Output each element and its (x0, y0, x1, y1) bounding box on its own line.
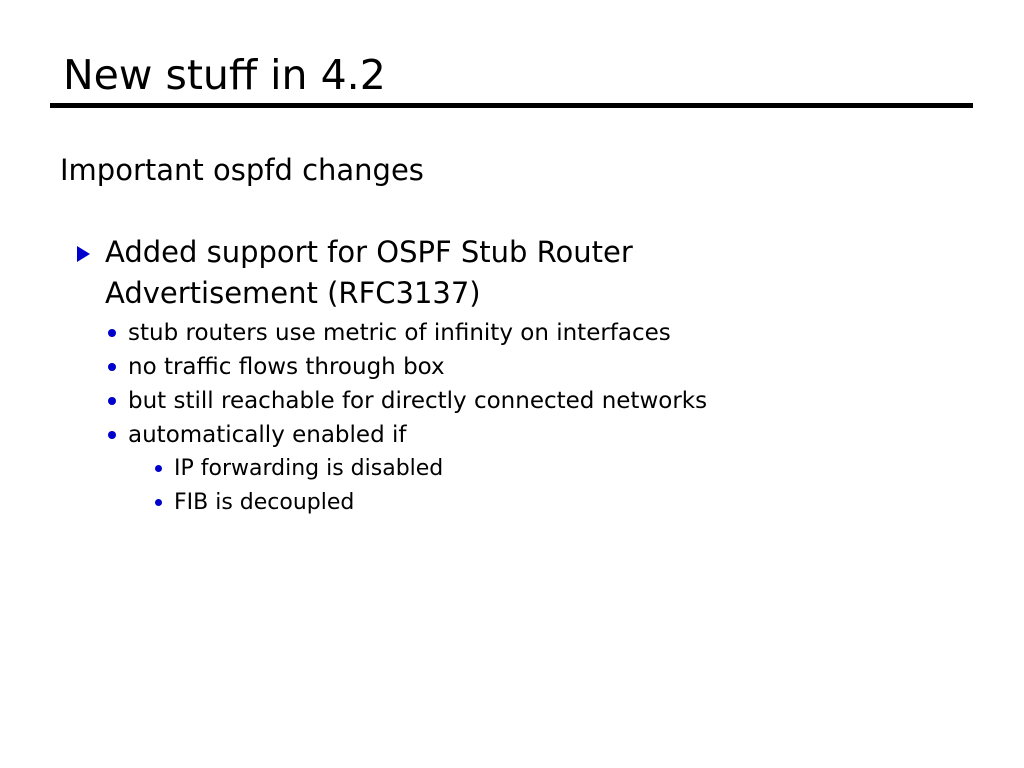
list-item-label: automatically enabled if (128, 422, 406, 448)
page-title: New stuff in 4.2 (50, 50, 974, 100)
list-item-label: IP forwarding is disabled (174, 456, 443, 481)
intro-text: Important ospfd changes (60, 152, 424, 188)
list-item-label: but still reachable for directly connect… (128, 388, 707, 414)
dot-icon (108, 397, 116, 405)
dot-icon (108, 363, 116, 371)
list-item: IP forwarding is disabled (155, 452, 874, 486)
bullet-list: Added support for OSPF Stub Router Adver… (0, 232, 1024, 520)
title-divider (50, 103, 973, 108)
list-item-label: Added support for OSPF Stub Router Adver… (105, 235, 633, 310)
list-item-label: FIB is decoupled (174, 490, 354, 515)
list-item: no traffic flows through box (108, 350, 888, 384)
list-item-label: no traffic flows through box (128, 354, 445, 380)
list-item-label: stub routers use metric of infinity on i… (128, 320, 671, 346)
list-item: stub routers use metric of infinity on i… (108, 316, 888, 350)
dot-icon (155, 499, 162, 506)
dot-icon (108, 431, 116, 439)
slide-canvas: New stuff in 4.2 Important ospfd changes… (0, 0, 1024, 768)
slide-header: New stuff in 4.2 (50, 50, 974, 108)
list-item: but still reachable for directly connect… (108, 384, 888, 418)
list-item: Added support for OSPF Stub Router Adver… (77, 232, 725, 314)
dot-icon (155, 465, 162, 472)
dot-icon (108, 329, 116, 337)
list-item: FIB is decoupled (155, 486, 874, 520)
triangle-right-icon (77, 246, 90, 262)
list-item: automatically enabled if (108, 418, 888, 452)
